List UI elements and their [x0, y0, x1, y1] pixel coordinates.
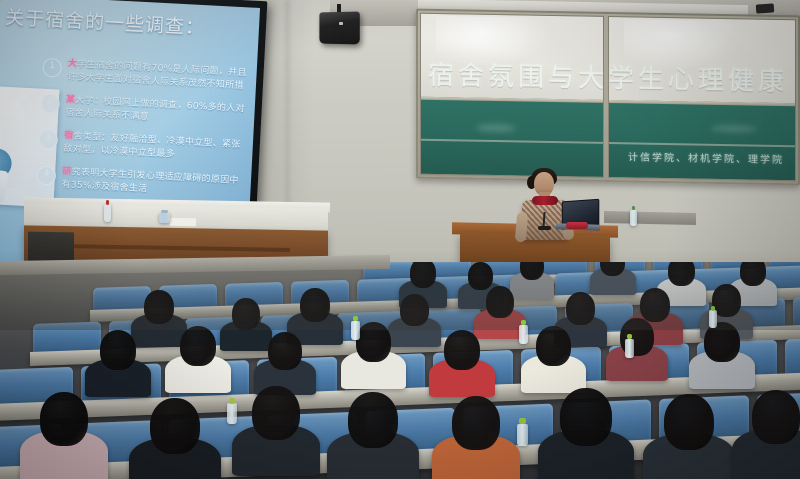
water-bottle — [709, 306, 717, 328]
water-bottle — [159, 210, 170, 223]
student — [150, 398, 200, 454]
bullet-body: 大学：校园网上做的调查，60%多的人对宿舍人际关系不满意 — [65, 95, 245, 122]
chalk-zone-right — [609, 100, 795, 180]
list-item: 4 研究表明大学生引发心理适应障碍的原因中有35%涉及宿舍生活 — [36, 165, 245, 202]
student-head — [180, 326, 216, 366]
student-head — [100, 330, 136, 370]
student-head — [536, 326, 571, 366]
bottle-cap — [521, 320, 526, 325]
bottle-cap — [106, 200, 110, 205]
chalk-zone-left — [421, 97, 603, 177]
bullet-body: 舍类型：友好融洽型、冷漠中立型、紧张敌对型，以冷漠中立型最多 — [63, 131, 241, 159]
student — [40, 392, 88, 446]
bottle-cap — [229, 398, 235, 404]
student — [444, 330, 480, 370]
glare — [436, 16, 552, 68]
student-head — [252, 386, 300, 440]
glare — [624, 19, 743, 71]
bottle-cap — [711, 306, 715, 311]
bottle-body — [630, 210, 637, 226]
water-bottle — [351, 316, 360, 340]
student — [180, 326, 216, 366]
microphone-base — [538, 226, 551, 230]
bottle-body — [625, 339, 634, 358]
lectern-side-shelf — [604, 211, 696, 225]
student — [348, 392, 398, 448]
bullet-text: 宿舍类型：友好融洽型、冷漠中立型、紧张敌对型，以冷漠中立型最多 — [63, 130, 247, 166]
bottle-body — [709, 310, 717, 328]
list-item: 3 宿舍类型：友好融洽型、冷漠中立型、紧张敌对型，以冷漠中立型最多 — [38, 129, 247, 166]
bullet-text: 研究表明大学生引发心理适应障碍的原因中有35%涉及宿舍生活 — [61, 166, 245, 202]
paper-sheet — [170, 218, 196, 226]
bullet-number-badge: 4 — [36, 166, 56, 186]
presenter-scarf — [532, 196, 558, 205]
student-head — [444, 330, 480, 370]
student — [536, 326, 571, 366]
bullet-text: 某大学：校园网上做的调查，60%多的人对宿舍人际关系不满意 — [65, 94, 249, 130]
wall-speaker-icon — [319, 12, 359, 45]
blackboard-title: 宿舍氛围与大学生心理健康 — [416, 63, 800, 96]
bullet-body: 究表明大学生引发心理适应障碍的原因中有35%涉及宿舍生活 — [61, 167, 239, 194]
student-head — [560, 388, 612, 446]
water-bottle — [517, 418, 528, 446]
bottle-body — [104, 204, 111, 222]
list-item: 2 某大学：校园网上做的调查，60%多的人对宿舍人际关系不满意 — [40, 93, 249, 130]
blackboard-panel-left — [420, 13, 604, 178]
bottle-cap — [519, 418, 525, 424]
bottle-body — [351, 321, 360, 340]
bottle-body — [159, 213, 170, 223]
water-bottle — [104, 200, 111, 222]
chalk-smudge — [711, 124, 757, 132]
student-head — [452, 396, 500, 450]
student — [252, 386, 300, 440]
student-head — [150, 398, 200, 454]
blackboard: 宿舍氛围与大学生心理健康 计信学院、材机学院、理学院 — [416, 9, 800, 186]
bottle-body — [519, 325, 528, 344]
student — [752, 390, 800, 444]
bottle-cap — [161, 210, 167, 213]
student-head — [40, 392, 88, 446]
ceiling-fixture — [756, 3, 775, 13]
student — [452, 396, 500, 450]
bottle-cap — [627, 334, 632, 339]
bottle-cap — [353, 316, 358, 321]
student-head — [752, 390, 800, 444]
student — [268, 332, 302, 370]
student-head — [268, 332, 302, 370]
bullet-number-badge: 1 — [42, 58, 62, 78]
water-bottle — [625, 334, 634, 358]
wall-floor-shadow — [0, 250, 800, 330]
bullet-number-badge: 2 — [40, 94, 60, 114]
red-folder-on-lectern — [566, 222, 588, 229]
water-bottle — [630, 206, 637, 226]
slide-bullet-list: 1 大学生宿舍的问题有70%是人际问题，并且许多大学生面对宿舍人际关系茂然不知所… — [36, 57, 251, 212]
blackboard-subtitle: 计信学院、材机学院、理学院 — [628, 148, 784, 166]
student-head — [348, 392, 398, 448]
bullet-number-badge: 3 — [38, 130, 58, 150]
student — [664, 394, 714, 450]
lecture-hall-photo: 宿舍氛围与大学生心理健康 计信学院、材机学院、理学院 关于宿舍的一些调查： 1 … — [0, 0, 800, 479]
speaker-led-icon — [339, 22, 343, 25]
bottle-body — [227, 403, 237, 424]
water-bottle — [227, 398, 237, 424]
bottle-body — [517, 424, 528, 446]
water-bottle — [519, 320, 528, 344]
seat[interactable] — [785, 336, 800, 377]
student — [100, 330, 136, 370]
student-head — [664, 394, 714, 450]
student — [560, 388, 612, 446]
